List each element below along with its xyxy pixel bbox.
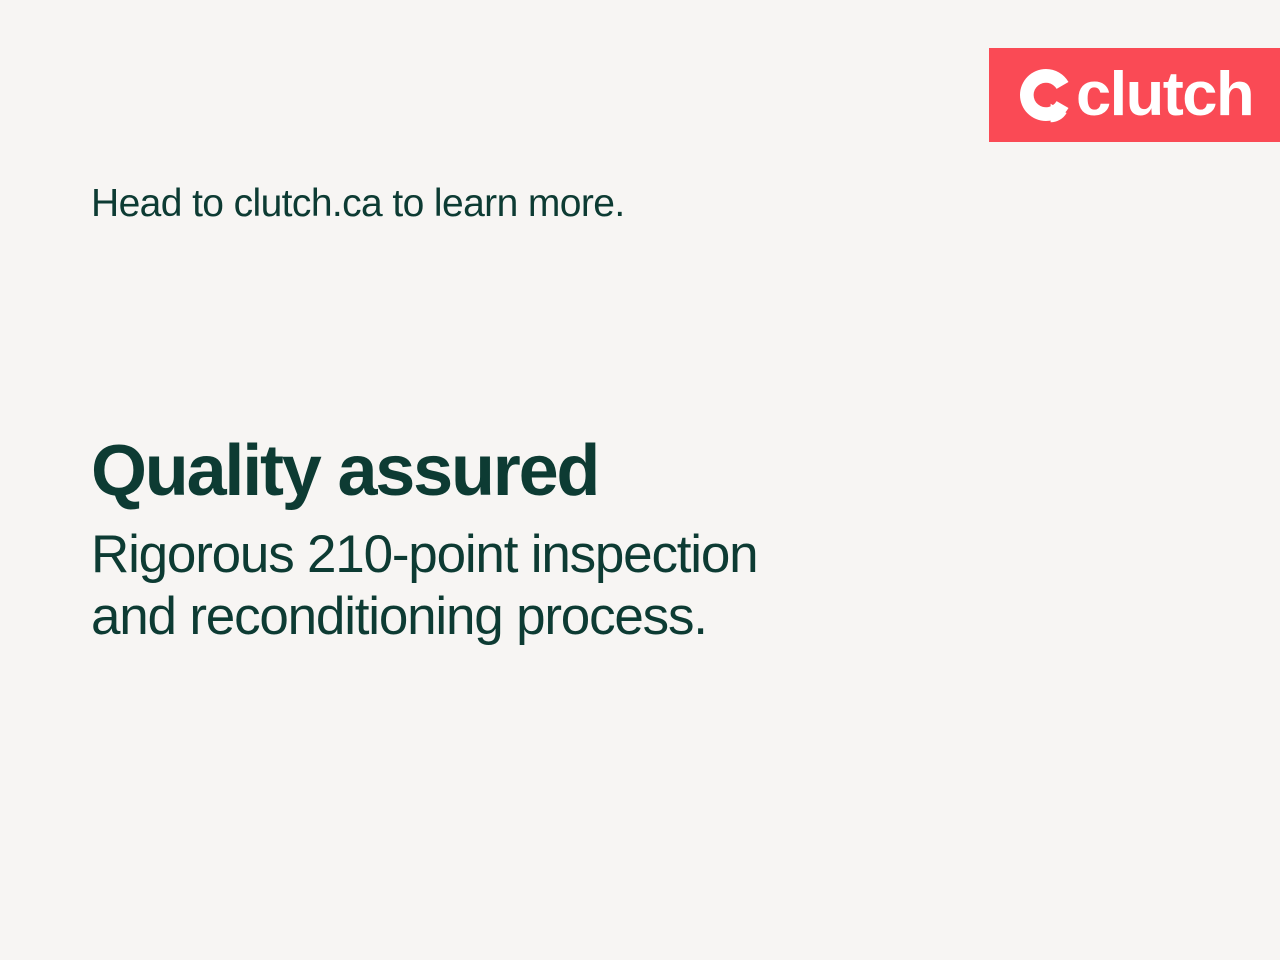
subcopy: Rigorous 210-point inspection and recond… bbox=[91, 524, 991, 649]
message-block: Quality assured Rigorous 210-point inspe… bbox=[91, 434, 991, 649]
tagline-text: Head to clutch.ca to learn more. bbox=[91, 181, 625, 227]
clutch-logo-lockup: clutch bbox=[1018, 64, 1250, 126]
clutch-c-mark-icon bbox=[1018, 67, 1074, 123]
headline: Quality assured bbox=[91, 434, 991, 510]
clutch-wordmark: clutch bbox=[1076, 64, 1253, 126]
promo-slide: clutch Head to clutch.ca to learn more. … bbox=[0, 0, 1280, 960]
subcopy-line-2: and reconditioning process. bbox=[91, 586, 991, 649]
subcopy-line-1: Rigorous 210-point inspection bbox=[91, 524, 991, 587]
clutch-logo-block[interactable]: clutch bbox=[989, 48, 1280, 142]
